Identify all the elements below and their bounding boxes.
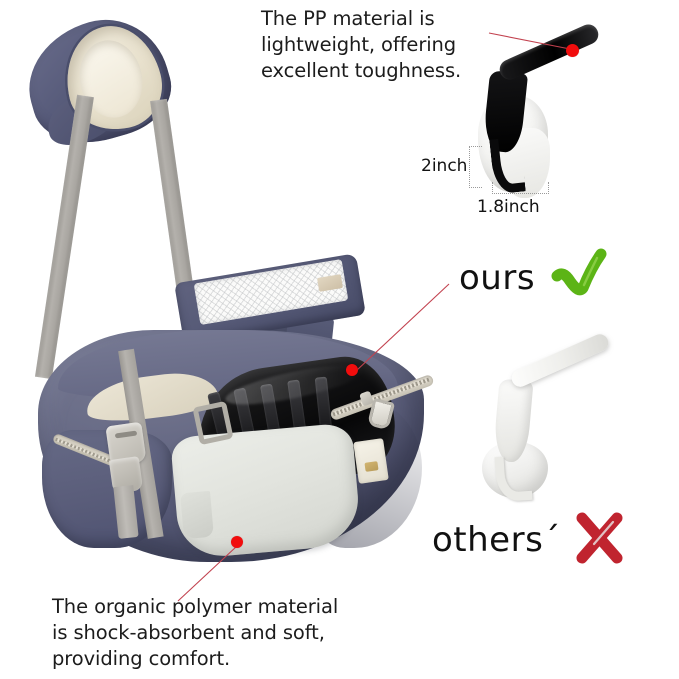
dimension-label-width: 1.8inch: [477, 197, 540, 217]
dimension-bracket-height: [469, 146, 482, 188]
dimension-label-height: 2inch: [421, 156, 467, 176]
ours-hook-lever-arm: [497, 21, 602, 82]
ours-label: ours: [459, 258, 535, 298]
others-buckle-hook-illustration: [482, 346, 612, 498]
polymer-cushion-notch: [180, 491, 214, 539]
pp-material-marker-dot: [566, 44, 579, 57]
green-check-icon: [549, 244, 611, 306]
infographic-canvas: The PP material is lightweight, offering…: [0, 0, 679, 679]
side-label-emblem: [364, 461, 378, 472]
product-illustration-baby-carrier-hip-seat: [0, 0, 460, 600]
red-cross-icon: [572, 510, 628, 568]
frame-marker-dot: [346, 364, 358, 376]
others-label: others´: [432, 520, 561, 560]
dimension-bracket-width: [492, 182, 549, 194]
callout-organic-polymer: The organic polymer material is shock-ab…: [52, 594, 392, 672]
callout-pp-material: The PP material is lightweight, offering…: [261, 6, 506, 84]
others-hook-arm: [509, 332, 611, 390]
polymer-marker-dot: [231, 536, 243, 548]
